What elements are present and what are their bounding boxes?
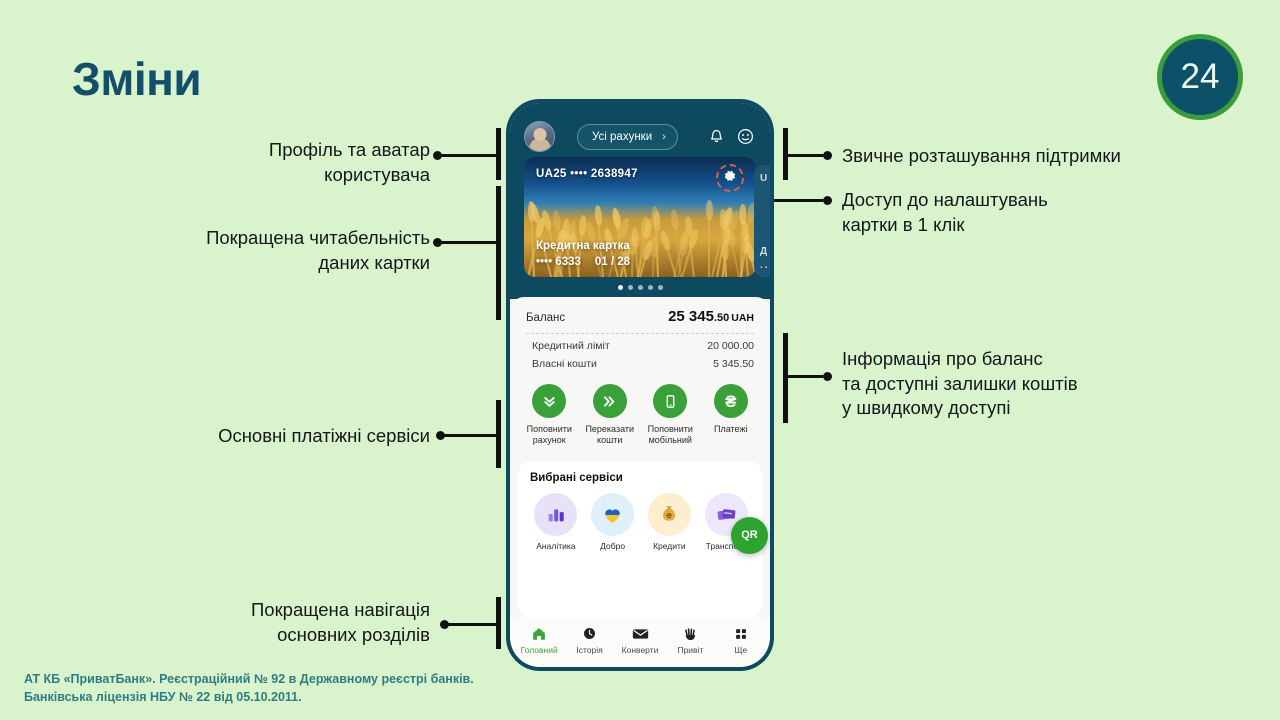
- callout-bracket-profile: [496, 128, 501, 180]
- clock-icon: [564, 625, 614, 642]
- favourite-services-title: Вибрані сервіси: [530, 472, 752, 484]
- nav-item-label: Привіт: [665, 645, 715, 655]
- own-funds-value: 5 345.50: [713, 358, 754, 370]
- credit-limit-label: Кредитний ліміт: [532, 340, 610, 352]
- carousel-dot[interactable]: [638, 285, 643, 290]
- callout-profile-avatar: Профіль та аватар користувача: [150, 138, 430, 187]
- balance-cents: .50: [714, 312, 729, 324]
- card-iban: UA25 •••• 2638947: [536, 168, 638, 180]
- bell-icon[interactable]: [709, 129, 724, 145]
- nav-item-label: Історія: [564, 645, 614, 655]
- callout-line-navigation: [447, 623, 498, 626]
- carousel-dot[interactable]: [628, 285, 633, 290]
- callout-line-payments: [443, 434, 498, 437]
- home-icon: [514, 625, 564, 642]
- pay-service-mobile-topup[interactable]: Поповнити мобільний: [641, 384, 700, 447]
- support-chat-icon[interactable]: [737, 128, 754, 145]
- chevron-right-icon: ›: [662, 131, 666, 143]
- balance-currency: UAH: [731, 312, 754, 324]
- waving-hand-icon: [665, 625, 715, 642]
- card-details: Кредитна картка •••• 6333 01 / 28: [536, 240, 630, 268]
- card-expiry: 01 / 28: [595, 256, 630, 268]
- callout-balance-info: Інформація про баланс та доступні залишк…: [842, 347, 1242, 421]
- card-masked-number: •••• 6333: [536, 256, 581, 268]
- callout-line-profile: [440, 154, 498, 157]
- app-header: Усі рахунки ›: [510, 103, 770, 157]
- callout-navigation: Покращена навігація основних розділів: [180, 598, 430, 647]
- peek-line-2: Д: [760, 246, 767, 257]
- page-title: Зміни: [72, 52, 201, 106]
- pay-service-topup-account[interactable]: Поповнити рахунок: [520, 384, 579, 447]
- favourite-services-row: Аналітика: [530, 493, 752, 551]
- qr-scan-fab-button[interactable]: QR: [731, 517, 768, 554]
- pay-service-label: Платежі: [702, 424, 761, 435]
- next-card-peek[interactable]: U Д ..: [754, 165, 770, 277]
- nav-item-hello[interactable]: Привіт: [665, 625, 715, 655]
- credit-limit-value: 20 000.00: [707, 340, 754, 352]
- callout-payment-services: Основні платіжні сервіси: [140, 424, 430, 449]
- balance-detail-row: Кредитний ліміт 20 000.00: [526, 334, 754, 352]
- favourite-services-card: Вибрані сервіси Аналітика: [518, 461, 762, 619]
- page-number-value: 24: [1181, 57, 1220, 97]
- balance-amount: 25 345.50UAH: [668, 308, 754, 325]
- bar-chart-icon: [534, 493, 577, 536]
- bank-card[interactable]: UA25 •••• 2638947 Кредитна картка •••• 6…: [524, 157, 756, 277]
- own-funds-label: Власні кошти: [532, 358, 597, 370]
- card-settings-highlight: [716, 164, 744, 192]
- balance-block: Баланс 25 345.50UAH Кредитний ліміт 20 0…: [510, 297, 770, 372]
- favourite-item-credits[interactable]: ₴ Кредити: [644, 493, 696, 551]
- nav-item-history[interactable]: Історія: [564, 625, 614, 655]
- nav-item-label: Ще: [716, 645, 766, 655]
- card-carousel: U Д .. UA25 •••• 2638947 Кредитна кар: [510, 157, 770, 299]
- favourite-item-label: Аналітика: [530, 541, 582, 551]
- avatar[interactable]: [524, 121, 555, 152]
- balance-major: 25 345: [668, 308, 714, 325]
- mobile-phone-icon: [653, 384, 687, 418]
- hryvnia-icon: ₴: [714, 384, 748, 418]
- nav-item-label: Конверти: [615, 645, 665, 655]
- callout-dot-support: [823, 151, 832, 160]
- callout-line-readability: [440, 241, 498, 244]
- favourite-item-analytics[interactable]: Аналітика: [530, 493, 582, 551]
- callout-bracket-payments: [496, 400, 501, 468]
- carousel-dots[interactable]: [510, 277, 770, 290]
- callout-line-balance: [786, 375, 823, 378]
- heart-flag-icon: [591, 493, 634, 536]
- pay-service-label: Поповнити мобільний: [641, 424, 700, 447]
- svg-text:₴: ₴: [666, 511, 672, 520]
- envelope-icon: [615, 625, 665, 642]
- favourite-item-charity[interactable]: Добро: [587, 493, 639, 551]
- pay-service-label: Переказати кошти: [581, 424, 640, 447]
- payment-services-row: Поповнити рахунок Переказати кошти: [510, 372, 770, 457]
- peek-line-3: ..: [760, 260, 770, 271]
- card-number-row: •••• 6333 01 / 28: [536, 256, 630, 268]
- callout-bracket-navigation: [496, 597, 501, 649]
- footer-line-2: Банківська ліцензія НБУ № 22 від 05.10.2…: [24, 688, 474, 706]
- card-product-name: Кредитна картка: [536, 240, 630, 252]
- qr-icon-label: QR: [741, 529, 758, 541]
- chevrons-down-icon: [532, 384, 566, 418]
- nav-item-home[interactable]: Головний: [514, 625, 564, 655]
- pay-service-label: Поповнити рахунок: [520, 424, 579, 447]
- balance-label: Баланс: [526, 312, 565, 324]
- phone-mockup: Усі рахунки ›: [506, 99, 774, 671]
- carousel-dot[interactable]: [618, 285, 623, 290]
- favourite-item-label: Кредити: [644, 541, 696, 551]
- content-sheet: Баланс 25 345.50UAH Кредитний ліміт 20 0…: [510, 297, 770, 667]
- accounts-selector-button[interactable]: Усі рахунки ›: [577, 124, 678, 150]
- balance-main-row: Баланс 25 345.50UAH: [526, 308, 754, 333]
- callout-line-support: [786, 154, 823, 157]
- carousel-dot[interactable]: [648, 285, 653, 290]
- legal-footer: АТ КБ «ПриватБанк». Реєстраційний № 92 в…: [24, 670, 474, 706]
- favourite-item-label: Добро: [587, 541, 639, 551]
- footer-line-1: АТ КБ «ПриватБанк». Реєстраційний № 92 в…: [24, 670, 474, 688]
- callout-support-location: Звичне розташування підтримки: [842, 144, 1222, 169]
- header-icons: [709, 128, 756, 145]
- nav-item-envelopes[interactable]: Конверти: [615, 625, 665, 655]
- phone-screen: Усі рахунки ›: [510, 103, 770, 667]
- peek-line-1: U: [760, 173, 767, 184]
- callout-card-readability: Покращена читабельність даних картки: [130, 226, 430, 275]
- money-bag-icon: ₴: [648, 493, 691, 536]
- pay-service-transfer[interactable]: Переказати кошти: [581, 384, 640, 447]
- callout-bracket-balance: [783, 333, 788, 423]
- nav-item-more[interactable]: Ще: [716, 625, 766, 655]
- nav-item-label: Головний: [514, 645, 564, 655]
- chevrons-right-icon: [593, 384, 627, 418]
- callout-card-settings: Доступ до налаштувань картки в 1 клік: [842, 188, 1222, 237]
- carousel-dot[interactable]: [658, 285, 663, 290]
- gear-icon[interactable]: [723, 169, 737, 188]
- callout-dot-balance: [823, 372, 832, 381]
- balance-detail-row: Власні кошти 5 345.50: [526, 352, 754, 370]
- page-number-badge: 24: [1157, 34, 1243, 120]
- grid-dots-icon: [716, 625, 766, 642]
- pay-service-payments[interactable]: ₴ Платежі: [702, 384, 761, 447]
- callout-bracket-readability: [496, 186, 501, 320]
- callout-dot-card-settings: [823, 196, 832, 205]
- accounts-selector-label: Усі рахунки: [592, 131, 652, 143]
- bottom-navigation: Головний Історія: [510, 618, 770, 667]
